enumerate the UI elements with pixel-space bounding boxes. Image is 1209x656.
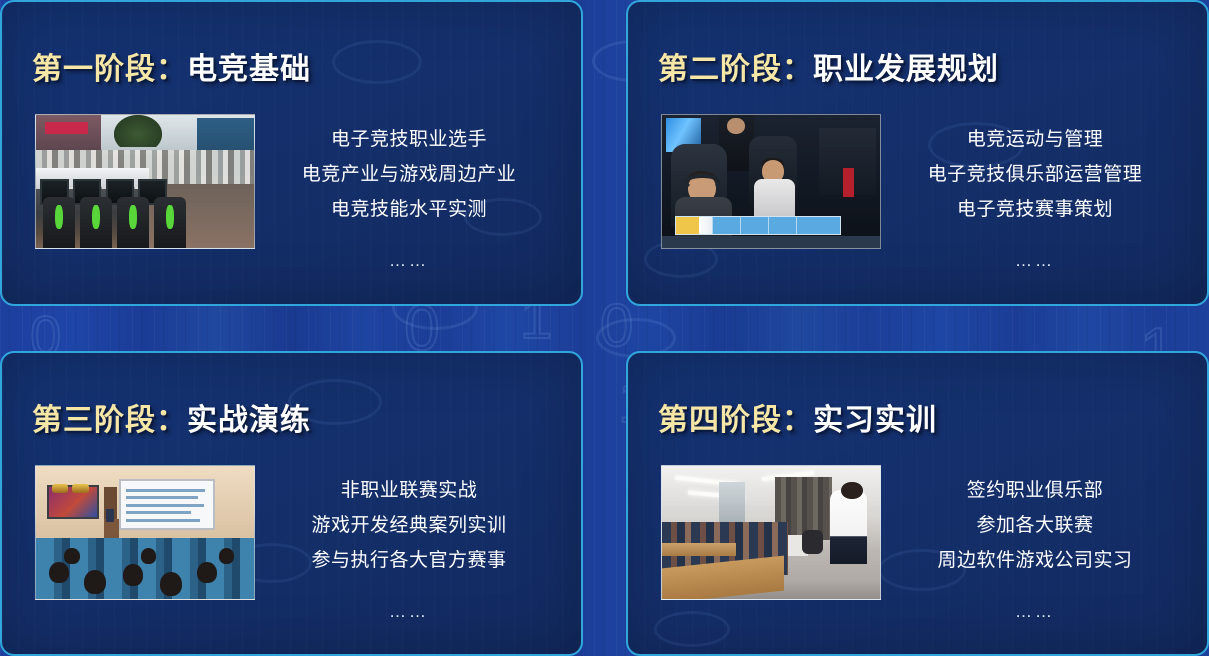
list-item: 电竞产业与游戏周边产业 [255, 157, 563, 192]
stage-panel-1[interactable]: 第一阶段：电竞基础 [0, 0, 583, 306]
list-item: 周边软件游戏公司实习 [881, 543, 1189, 578]
list-item: 电子竞技职业选手 [255, 122, 563, 157]
panel-title-4: 第四阶段：实习实训 [658, 395, 937, 439]
panel-title-colon: ： [782, 404, 813, 437]
panel-title-colon: ： [782, 53, 813, 86]
stage-panel-grid: 第一阶段：电竞基础 [0, 0, 1209, 656]
panel-photo-4 [661, 465, 881, 600]
list-item: 电竞运动与管理 [881, 122, 1189, 157]
panel-title-topic: 实战演练 [187, 404, 311, 437]
slide-root: 0 1 0 1 0 1 第一阶段：电竞基础 [0, 0, 1209, 656]
panel-photo-2 [661, 114, 881, 249]
panel-photo-1 [35, 114, 255, 249]
panel-body-2: 电竞运动与管理 电子竞技俱乐部运营管理 电子竞技赛事策划 …… [628, 114, 1207, 278]
panel-title-stage: 第一阶段 [32, 53, 156, 86]
panel-title-stage: 第三阶段 [32, 404, 156, 437]
panel-title-3: 第三阶段：实战演练 [32, 395, 311, 439]
list-ellipsis: …… [255, 243, 563, 278]
panel-title-stage: 第四阶段 [658, 404, 782, 437]
list-item: 参与执行各大官方赛事 [255, 543, 563, 578]
panel-ring-icon [332, 40, 422, 84]
panel-body-3: 非职业联赛实战 游戏开发经典案列实训 参与执行各大官方赛事 …… [2, 465, 581, 629]
panel-item-list-3: 非职业联赛实战 游戏开发经典案列实训 参与执行各大官方赛事 …… [255, 465, 581, 629]
list-item: 签约职业俱乐部 [881, 473, 1189, 508]
panel-title-colon: ： [156, 404, 187, 437]
list-ellipsis: …… [881, 243, 1189, 278]
list-item: 游戏开发经典案列实训 [255, 508, 563, 543]
panel-item-list-2: 电竞运动与管理 电子竞技俱乐部运营管理 电子竞技赛事策划 …… [881, 114, 1207, 278]
stage-panel-3[interactable]: 第三阶段：实战演练 [0, 351, 583, 656]
panel-item-list-4: 签约职业俱乐部 参加各大联赛 周边软件游戏公司实习 …… [881, 465, 1207, 629]
panel-title-topic: 电竞基础 [187, 53, 311, 86]
panel-item-list-1: 电子竞技职业选手 电竞产业与游戏周边产业 电竞技能水平实测 …… [255, 114, 581, 278]
stage-panel-2[interactable]: 第二阶段：职业发展规划 [626, 0, 1209, 306]
panel-body-1: 电子竞技职业选手 电竞产业与游戏周边产业 电竞技能水平实测 …… [2, 114, 581, 278]
list-item: 电子竞技赛事策划 [881, 192, 1189, 227]
stage-panel-4[interactable]: 第四阶段：实习实训 [626, 351, 1209, 656]
panel-title-stage: 第二阶段 [658, 53, 782, 86]
panel-title-topic: 职业发展规划 [813, 53, 999, 86]
panel-title-topic: 实习实训 [813, 404, 937, 437]
panel-title-colon: ： [156, 53, 187, 86]
list-ellipsis: …… [255, 594, 563, 629]
list-item: 电子竞技俱乐部运营管理 [881, 157, 1189, 192]
panel-title-2: 第二阶段：职业发展规划 [658, 44, 999, 88]
panel-body-4: 签约职业俱乐部 参加各大联赛 周边软件游戏公司实习 …… [628, 465, 1207, 629]
panel-title-1: 第一阶段：电竞基础 [32, 44, 311, 88]
list-ellipsis: …… [881, 594, 1189, 629]
list-item: 参加各大联赛 [881, 508, 1189, 543]
panel-photo-3 [35, 465, 255, 600]
list-item: 电竞技能水平实测 [255, 192, 563, 227]
list-item: 非职业联赛实战 [255, 473, 563, 508]
